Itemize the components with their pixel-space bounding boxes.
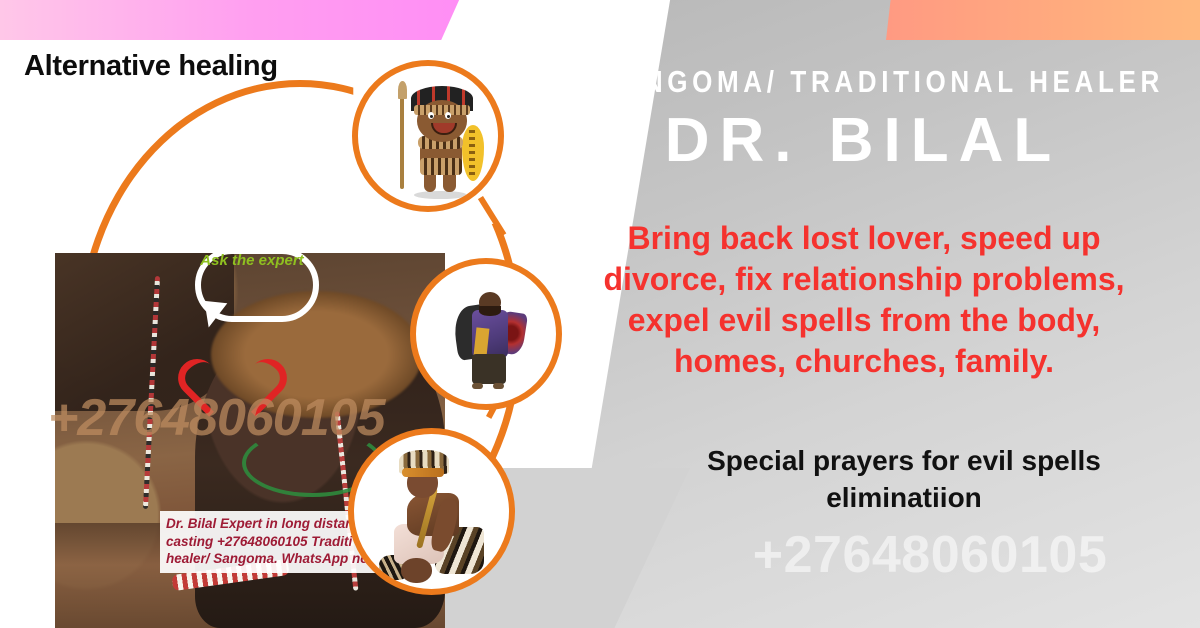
speech-bubble-text: Ask the expert [200, 252, 304, 271]
services-line-3: expel evil spells from the body, [540, 300, 1188, 341]
prayers-text: Special prayers for evil spells eliminat… [620, 442, 1188, 516]
warrior-shadow [414, 191, 467, 199]
diviner-sash [473, 328, 488, 357]
page-title: Alternative healing [24, 52, 278, 81]
warrior-leg-left [424, 175, 437, 192]
photo-watermark-phone: +27648060105 [48, 388, 385, 448]
speech-bubble-tail [202, 301, 228, 329]
panel-watermark-phone: +27648060105 [660, 525, 1200, 585]
services-line-4: homes, churches, family. [540, 341, 1188, 382]
healer-headband [402, 468, 444, 477]
diviner-beard [479, 306, 501, 316]
healer-knee [401, 558, 432, 583]
diviner-legs [472, 354, 506, 385]
diviner-foot-right [493, 383, 504, 389]
promo-poster: Alternative healing Ask the expert +2764… [0, 0, 1200, 628]
warrior-headband [414, 105, 470, 115]
speech-bubble-line-2: expert [259, 252, 304, 269]
services-line-2: divorce, fix relationship problems, [540, 259, 1188, 300]
brand-name: DR. BILAL [548, 108, 1178, 173]
warrior-spear [400, 88, 404, 189]
pink-accent-band [0, 0, 460, 40]
diviner-foot-left [472, 383, 483, 389]
orange-accent-band [886, 0, 1200, 40]
services-line-1: Bring back lost lover, speed up [540, 218, 1188, 259]
heart-outline-icon [198, 335, 260, 391]
warrior-skirt [420, 158, 462, 175]
speech-bubble-line-1: Ask the [200, 252, 254, 269]
zulu-warrior-cartoon-icon [352, 60, 504, 212]
prayers-line-1: Special prayers for evil spells [620, 442, 1188, 479]
services-text: Bring back lost lover, speed up divorce,… [540, 218, 1188, 382]
warrior-pupil-right [447, 115, 450, 118]
warrior-leg-right [443, 175, 456, 192]
prayers-line-2: eliminatiion [620, 479, 1188, 516]
kicker-text: SANGOMA/ TRADITIONAL HEALER [598, 64, 1127, 100]
crouching-healer-icon [348, 428, 515, 595]
warrior-shield-marking [469, 130, 475, 175]
warrior-spear-tip [398, 81, 407, 99]
